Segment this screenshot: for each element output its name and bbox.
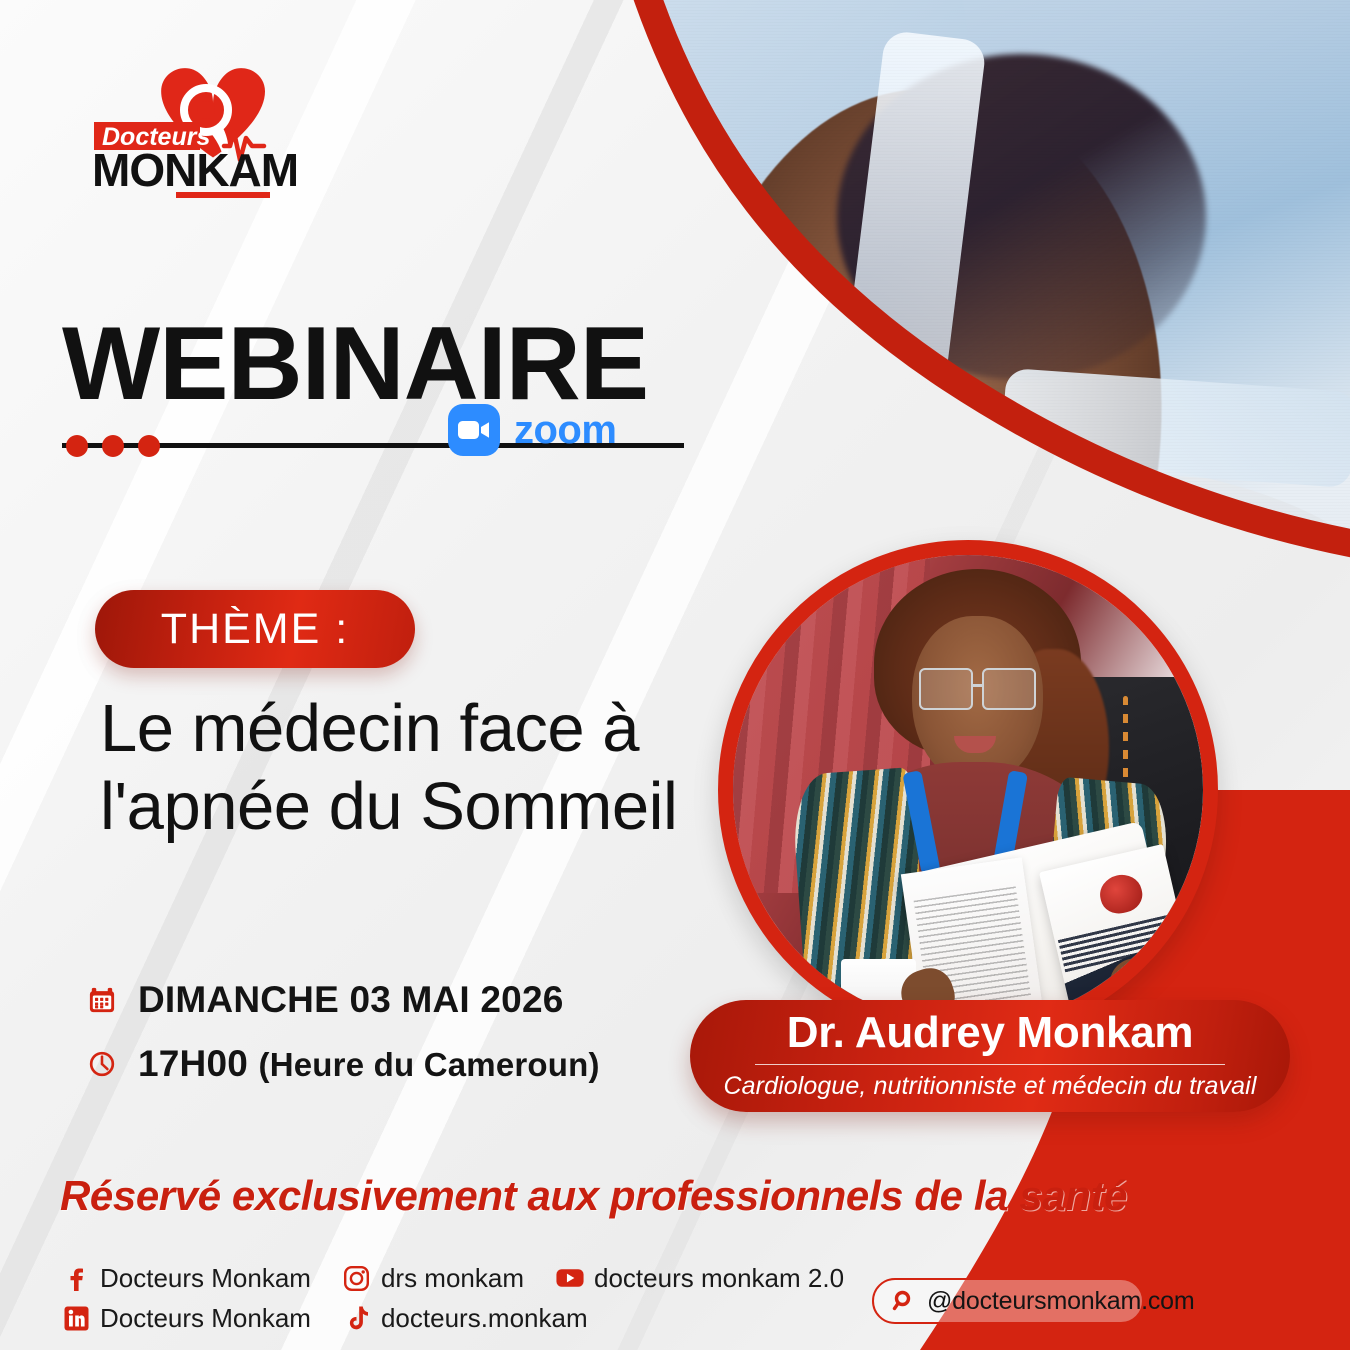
youtube-icon: [556, 1264, 584, 1292]
zoom-wordmark: zoom: [514, 408, 616, 453]
social-line-1: Docteurs Monkam drs monkam: [62, 1258, 866, 1298]
rule-dot-1: [66, 435, 88, 457]
schedule-block: DIMANCHE 03 MAI 2026 17H00 (Heure du Cam…: [88, 968, 600, 1096]
linkedin-icon: [62, 1304, 90, 1332]
logo-text-monkam: MONKAM: [92, 144, 298, 196]
social-youtube-handle: docteurs monkam 2.0: [594, 1263, 844, 1294]
website-badge[interactable]: @docteursmonkam.com: [872, 1278, 1144, 1324]
zoom-camera-icon: [448, 404, 500, 456]
webinar-time: 17H00 (Heure du Cameroun): [138, 1043, 600, 1085]
audience-disclaimer: Réservé exclusivement aux professionnels…: [60, 1172, 1180, 1220]
speaker-divider: [755, 1064, 1225, 1066]
social-tiktok[interactable]: docteurs.monkam: [343, 1303, 588, 1334]
social-instagram-handle: drs monkam: [381, 1263, 524, 1294]
search-icon: [890, 1287, 918, 1315]
rule-dot-2: [102, 435, 124, 457]
social-instagram[interactable]: drs monkam: [343, 1263, 524, 1294]
time-row: 17H00 (Heure du Cameroun): [88, 1032, 600, 1096]
social-tiktok-handle: docteurs.monkam: [381, 1303, 588, 1334]
social-facebook[interactable]: Docteurs Monkam: [62, 1263, 311, 1294]
facebook-icon: [62, 1264, 90, 1292]
clock-icon: [88, 1050, 116, 1078]
time-zone: (Heure du Cameroun): [259, 1046, 600, 1083]
social-links: Docteurs Monkam drs monkam: [62, 1258, 866, 1338]
webinar-date: DIMANCHE 03 MAI 2026: [138, 979, 564, 1021]
page-title: WEBINAIRE: [62, 312, 684, 416]
speaker-name-banner: Dr. Audrey Monkam Cardiologue, nutrition…: [690, 1000, 1290, 1112]
theme-badge-label: THÈME :: [161, 605, 349, 654]
social-facebook-handle: Docteurs Monkam: [100, 1263, 311, 1294]
social-youtube[interactable]: docteurs monkam 2.0: [556, 1263, 844, 1294]
speaker-role: Cardiologue, nutritionniste et médecin d…: [724, 1072, 1257, 1101]
webinar-flyer: Docteurs MONKAM WEBINAIRE zoom THÈME : L…: [0, 0, 1350, 1350]
rule-dot-3: [138, 435, 160, 457]
zoom-platform-badge: zoom: [448, 404, 616, 456]
social-line-2: Docteurs Monkam docteurs.monkam: [62, 1298, 866, 1338]
speaker-portrait: [718, 540, 1218, 1040]
social-linkedin-handle: Docteurs Monkam: [100, 1303, 311, 1334]
date-row: DIMANCHE 03 MAI 2026: [88, 968, 600, 1032]
theme-badge: THÈME :: [95, 590, 415, 668]
speaker-name: Dr. Audrey Monkam: [787, 1011, 1193, 1055]
brand-logo: Docteurs MONKAM: [78, 58, 328, 223]
instagram-icon: [343, 1264, 371, 1292]
social-linkedin[interactable]: Docteurs Monkam: [62, 1303, 311, 1334]
time-value: 17H00: [138, 1043, 259, 1084]
tiktok-icon: [343, 1304, 371, 1332]
website-label: @docteursmonkam.com: [927, 1287, 1195, 1316]
theme-title: Le médecin face à l'apnée du Sommeil: [100, 690, 700, 845]
calendar-icon: [88, 986, 116, 1014]
